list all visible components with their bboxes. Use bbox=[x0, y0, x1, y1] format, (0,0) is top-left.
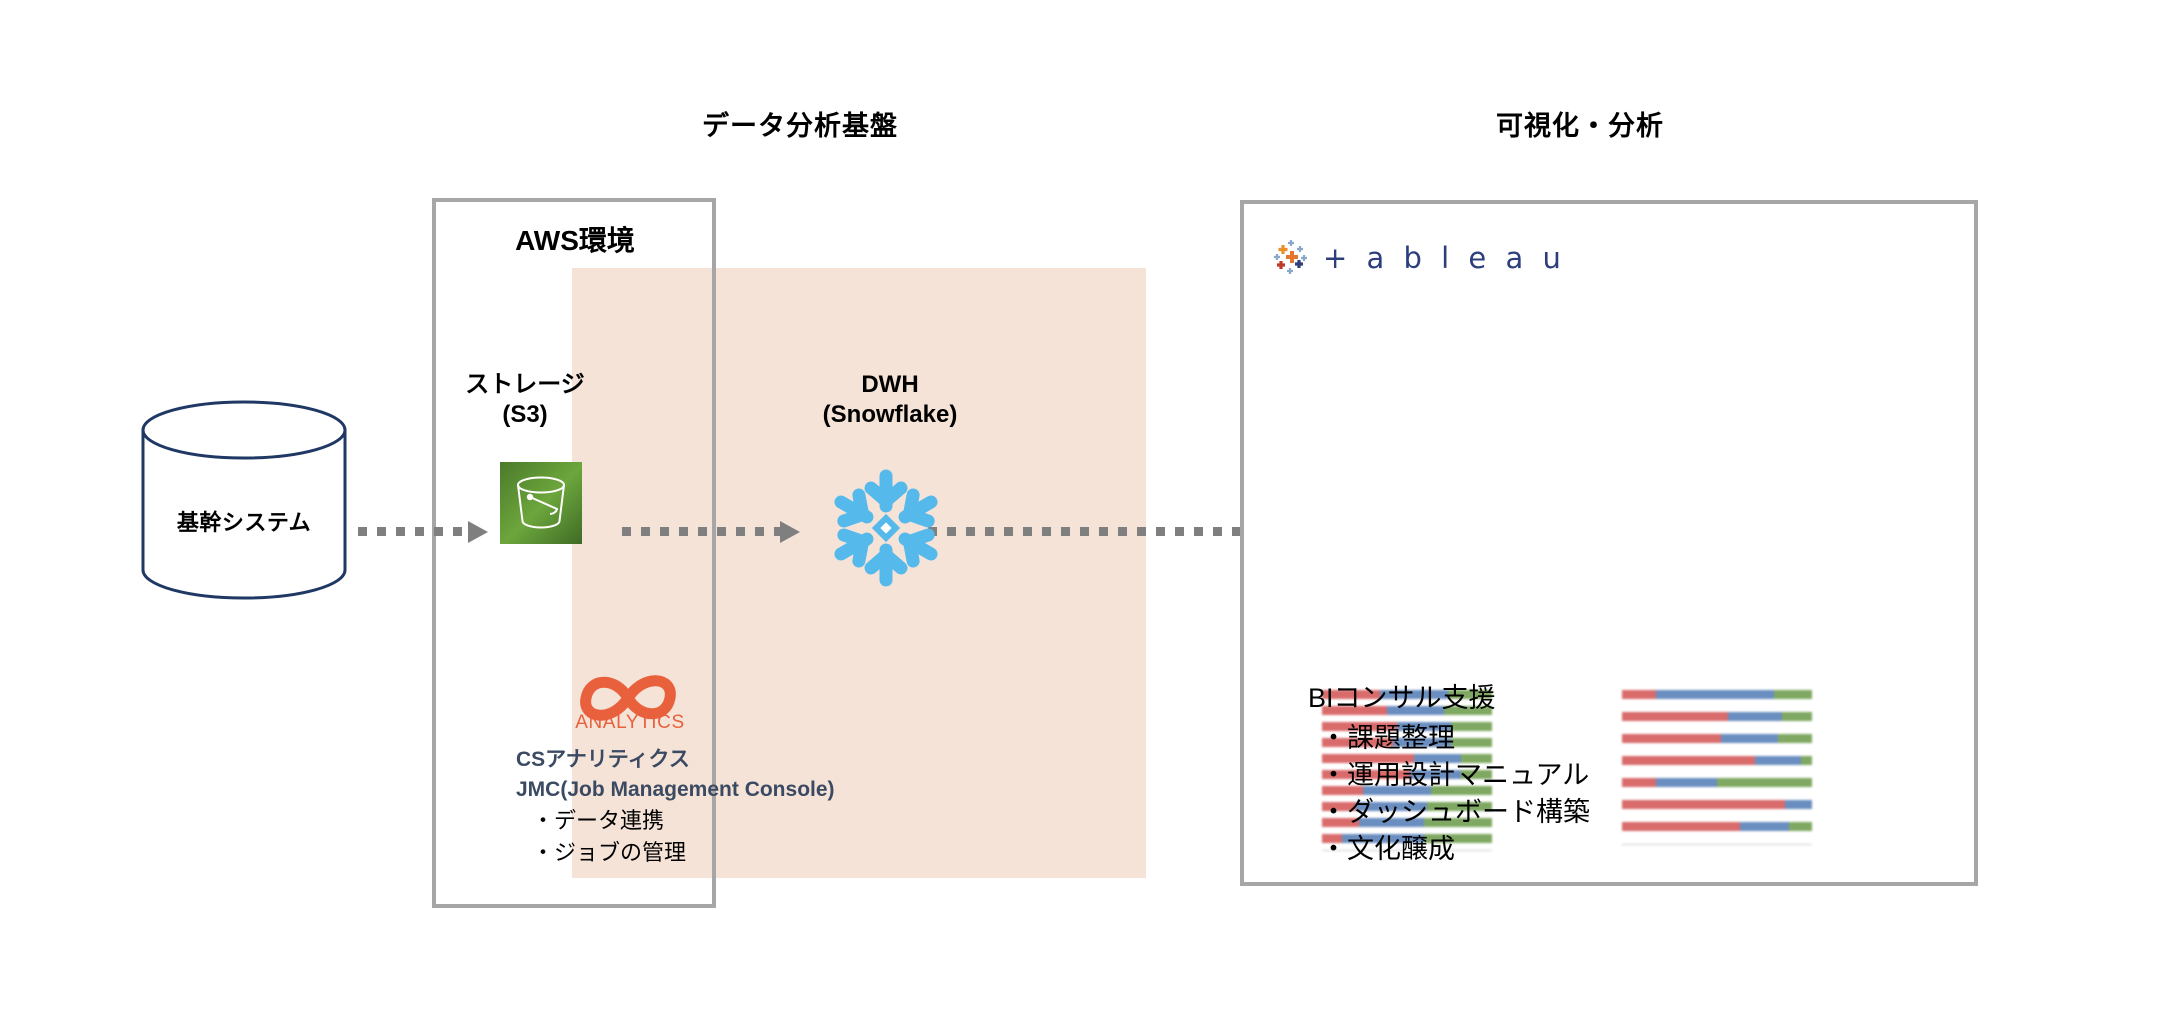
section-title-visualization: 可視化・分析 bbox=[1420, 104, 1740, 143]
arrow-line bbox=[622, 527, 782, 536]
aws-environment-label: AWS環境 bbox=[440, 219, 710, 259]
arrow-source-to-storage bbox=[358, 521, 490, 541]
bi-consulting-caption: BIコンサル支援 bbox=[1308, 680, 1728, 716]
core-system-cylinder bbox=[140, 400, 348, 600]
arrow-head bbox=[780, 521, 800, 543]
core-system-label: 基幹システム bbox=[140, 505, 348, 537]
arrow-storage-to-dwh bbox=[622, 521, 802, 541]
snowflake-icon bbox=[820, 462, 952, 594]
cs-analytics-caption: CSアナリティクス JMC(Job Management Console) bbox=[516, 745, 946, 805]
tableau-wordmark: + a b l e a u bbox=[1323, 241, 1566, 275]
arrow-dwh-to-bi bbox=[928, 521, 1290, 541]
dwh-label: DWH (Snowflake) bbox=[740, 370, 1040, 430]
section-title-data-platform: データ分析基盤 bbox=[600, 104, 1000, 143]
s3-bucket-icon bbox=[500, 462, 582, 544]
cs-analytics-bullets: ・データ連携 ・ジョブの管理 bbox=[532, 805, 962, 869]
arrow-line bbox=[928, 527, 1270, 536]
cs-analytics-wordmark: ANALYTICS bbox=[550, 712, 710, 734]
storage-label: ストレージ (S3) bbox=[430, 370, 620, 430]
diagram-canvas: データ分析基盤 可視化・分析 AWS環境 基幹システム ストレージ (S3) bbox=[0, 0, 2162, 1026]
bi-consulting-bullets: ・課題整理 ・運用設計マニュアル ・ダッシュボード構築 ・文化醸成 bbox=[1320, 720, 1750, 868]
arrow-head bbox=[468, 521, 488, 543]
arrow-line bbox=[358, 527, 470, 536]
tableau-plus-cluster-icon bbox=[1270, 236, 1314, 280]
tableau-logo: + a b l e a u bbox=[1270, 236, 1566, 280]
